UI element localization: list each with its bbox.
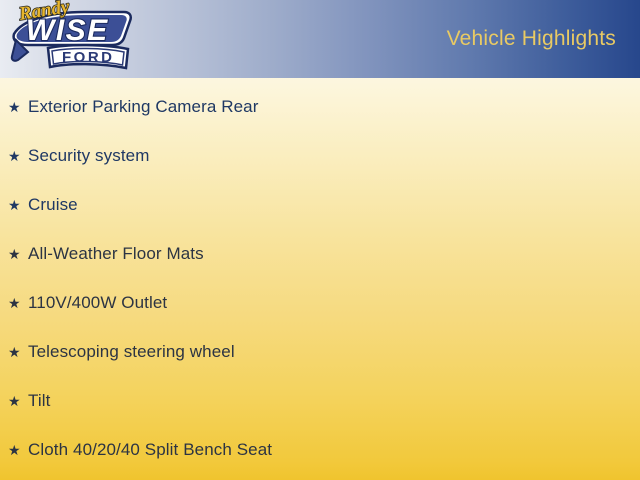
list-item: ★ Tilt bbox=[8, 392, 50, 409]
star-bullet-icon: ★ bbox=[8, 247, 28, 261]
star-bullet-icon: ★ bbox=[8, 198, 28, 212]
feature-label: Tilt bbox=[28, 392, 50, 409]
star-bullet-icon: ★ bbox=[8, 394, 28, 408]
star-bullet-icon: ★ bbox=[8, 100, 28, 114]
list-item: ★ Security system bbox=[8, 147, 149, 164]
randy-wise-ford-logo: WISE Randy FORD bbox=[6, 0, 142, 78]
list-item: ★ 110V/400W Outlet bbox=[8, 294, 167, 311]
feature-label: All-Weather Floor Mats bbox=[28, 245, 204, 262]
star-bullet-icon: ★ bbox=[8, 345, 28, 359]
star-bullet-icon: ★ bbox=[8, 149, 28, 163]
list-item: ★ All-Weather Floor Mats bbox=[8, 245, 204, 262]
star-bullet-icon: ★ bbox=[8, 296, 28, 310]
feature-label: Telescoping steering wheel bbox=[28, 343, 235, 360]
feature-label: Cruise bbox=[28, 196, 78, 213]
slide-header: WISE Randy FORD Vehicle Highlights bbox=[0, 0, 640, 78]
feature-label: Security system bbox=[28, 147, 149, 164]
star-bullet-icon: ★ bbox=[8, 443, 28, 457]
vehicle-highlights-list: ★ Exterior Parking Camera Rear ★ Securit… bbox=[0, 78, 640, 480]
feature-label: 110V/400W Outlet bbox=[28, 294, 167, 311]
list-item: ★ Telescoping steering wheel bbox=[8, 343, 235, 360]
list-item: ★ Cruise bbox=[8, 196, 78, 213]
vehicle-highlights-slide: WISE Randy FORD Vehicle Highlights ★ Ext… bbox=[0, 0, 640, 480]
list-item: ★ Cloth 40/20/40 Split Bench Seat bbox=[8, 441, 272, 458]
list-item: ★ Exterior Parking Camera Rear bbox=[8, 98, 259, 115]
logo-ford-text: FORD bbox=[62, 49, 115, 66]
feature-label: Exterior Parking Camera Rear bbox=[28, 98, 259, 115]
feature-label: Cloth 40/20/40 Split Bench Seat bbox=[28, 441, 272, 458]
page-title: Vehicle Highlights bbox=[447, 27, 616, 51]
